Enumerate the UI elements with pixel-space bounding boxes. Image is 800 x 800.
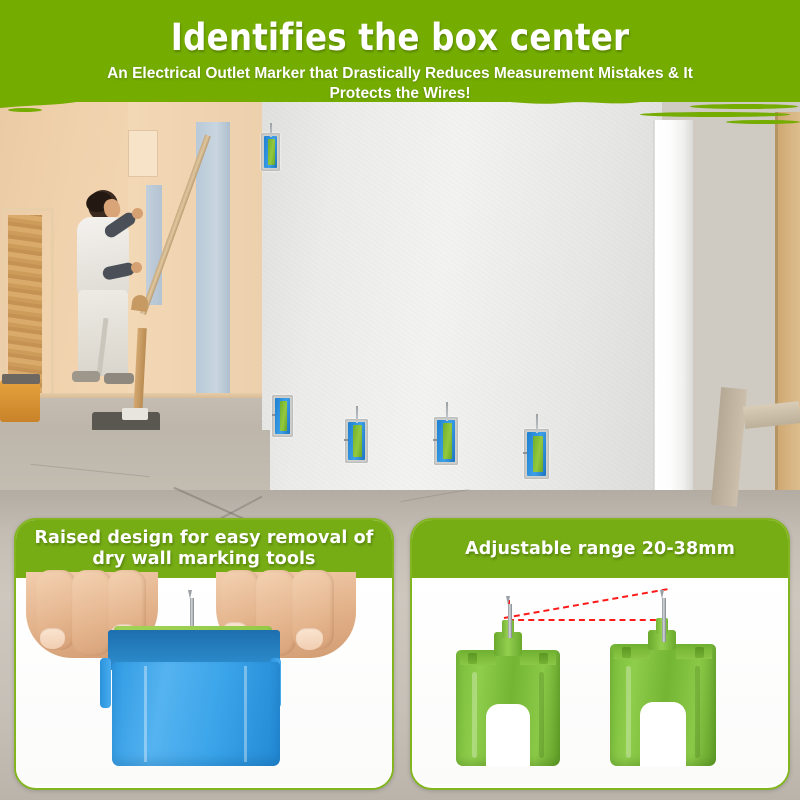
marker-shoulder-left-a [460,650,496,665]
electrical-box [112,662,280,766]
worker-shoe-left [72,371,100,382]
marker-tab [344,439,348,441]
tool-case-lid [2,374,40,384]
brush-streak-6 [0,100,54,105]
marker-u-notch-a [486,704,530,766]
marker-ridge-right-b [695,666,700,758]
page-title: Identifies the box center [48,16,752,59]
box-rib-right [244,666,247,762]
panel-title-right: Adjustable range 20-38mm [412,520,788,578]
brush-streak-4 [640,112,790,117]
panel-header-left: Raised design for easy removal of dry wa… [16,520,392,578]
panel-image-right [412,578,788,784]
feature-panel-adjustable-range: Adjustable range 20-38mm [410,518,790,790]
page-subtitle: An Electrical Outlet Marker that Drastic… [80,64,720,104]
marker-green-body [443,423,452,458]
marker-green-body [533,436,543,473]
brush-streak-5 [726,120,800,124]
marker-ridge-left-b [626,666,631,758]
range-guide-lower [508,619,666,621]
finger-left-2 [72,570,112,656]
marker-slot-left-a [468,653,477,664]
marker-pin-b [662,598,666,642]
drywall-corner [655,120,693,498]
box-rib-left [144,666,147,762]
feature-panel-raised-design: Raised design for easy removal of dry wa… [14,518,394,790]
outlet-marker-b [610,644,716,766]
doorway-opening [196,122,230,432]
wall-marker-2 [275,398,290,434]
marker-ridge-right-a [539,672,544,758]
fingernail-left-2 [40,628,65,649]
wall-marker-4 [437,420,455,462]
marker-green-body [280,401,288,431]
panel-header-right: Adjustable range 20-38mm [412,520,788,578]
header-banner: Identifies the box center An Electrical … [0,0,800,118]
marker-tab [523,452,527,454]
panel-image-left [16,578,392,784]
wall-marker-1 [264,136,277,168]
marker-slot-left-b [622,647,631,658]
brush-streak-7 [8,108,42,112]
fingernail-right-2 [296,628,323,650]
marker-shoulder-right-a [520,650,556,665]
marker-pin [536,414,538,433]
marker-tab [272,414,275,416]
product-marketing-image: Identifies the box center An Electrical … [0,0,800,800]
brush-streak-3 [690,104,798,109]
osb-panel-far-right [778,112,800,498]
marker-pin-tip-b [660,590,664,599]
marker-green-body [353,425,362,457]
wall-marker-5 [527,432,546,476]
marker-shoulder-left-b [614,644,650,659]
marker-slot-right-a [539,653,548,664]
tool-case [0,380,40,422]
panel-title-left: Raised design for easy removal of dry wa… [16,520,392,578]
worker-hand-upper [132,208,143,219]
marker-green-body [268,139,275,166]
marker-tab [433,439,437,441]
paint-tray-liner [122,408,148,420]
marker-u-notch-b [640,702,686,766]
marker-slot-right-b [695,647,704,658]
drywall-texture [262,95,662,495]
marker-pin-tip-a [506,596,510,605]
worker-shoe-right [104,373,134,384]
marker-pin-a [508,604,512,638]
worker-hand-lower [131,262,142,273]
marker-pin-tip [188,590,192,599]
box-ear-left [100,658,111,708]
wall-marker-3 [348,422,365,460]
outlet-marker-a [456,650,560,766]
marker-pin [446,402,448,420]
marker-pin [356,406,358,423]
marker-pin [270,123,272,137]
upper-window-opening [128,130,158,177]
marker-shoulder-right-b [676,644,712,659]
marker-ridge-left-a [472,672,477,758]
